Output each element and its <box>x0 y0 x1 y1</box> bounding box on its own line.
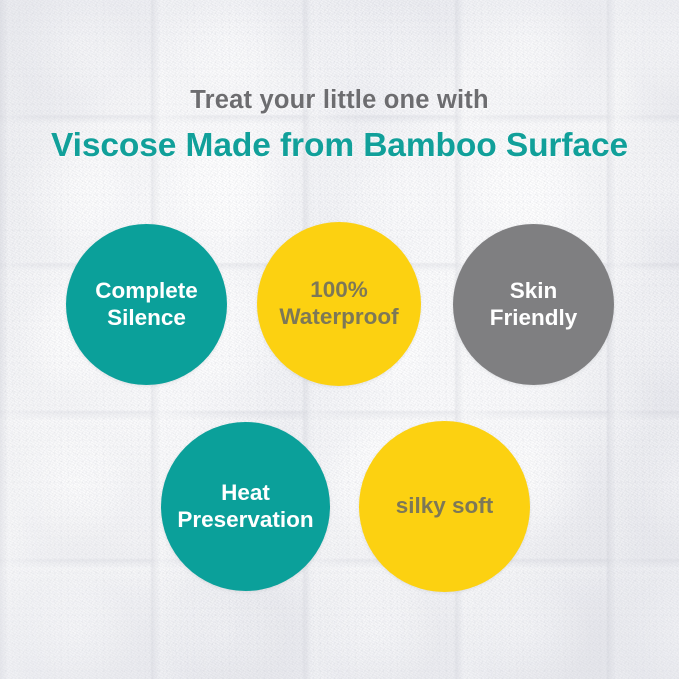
feature-badge-label: Skin Friendly <box>484 278 584 331</box>
feature-badge-label: Complete Silence <box>89 278 204 331</box>
page-title: Viscose Made from Bamboo Surface <box>0 127 679 166</box>
feature-badge-label: 100% Waterproof <box>273 277 404 330</box>
product-feature-graphic: Treat your little one with Viscose Made … <box>0 0 679 679</box>
feature-badge-label: Heat Preservation <box>171 480 319 533</box>
feature-badge-complete-silence: Complete Silence <box>66 224 227 385</box>
feature-badge-heat-preservation: Heat Preservation <box>161 422 330 591</box>
feature-badge-silky-soft: silky soft <box>359 421 530 592</box>
eyebrow-text: Treat your little one with <box>0 86 679 114</box>
feature-badge-skin-friendly: Skin Friendly <box>453 224 614 385</box>
feature-badge-waterproof: 100% Waterproof <box>257 222 421 386</box>
feature-badge-label: silky soft <box>390 493 500 520</box>
headline-block: Treat your little one with Viscose Made … <box>0 86 679 166</box>
